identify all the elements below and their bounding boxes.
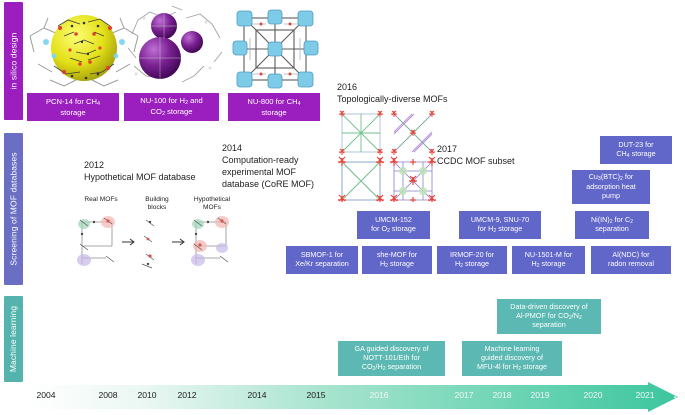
annotation-year-2016: 2016 <box>337 82 357 92</box>
structure-art-nu-100 <box>120 4 230 92</box>
timeline-year-2004: 2004 <box>36 390 55 400</box>
ml-box-text-ga-nott-101: GA guided discovery ofNOTT-101/Eth forCO… <box>355 345 429 372</box>
screening-box-text-ni-in-2: Ni(IN)2 for C2separation <box>591 216 633 234</box>
timeline-year-2018: 2018 <box>492 390 511 400</box>
screening-box-text-umcm-9-snu-70: UMCM-9, SNU-70for H2 storage <box>471 216 529 234</box>
screening-box-sbmof-1: SBMOF-1 forXe/Kr separation <box>286 246 358 274</box>
annotation-year-2012: 2012 <box>84 160 104 170</box>
screening-box-text-irmof-20: IRMOF-20 forH2 storage <box>450 251 494 269</box>
timeline-year-2017: 2017 <box>454 390 473 400</box>
structure-caption-nu-100: NU-100 for H2 andCO2 storage <box>124 93 219 121</box>
screening-box-umcm-152: UMCM-152for O2 storage <box>357 211 430 239</box>
annotation-text-ccdc-mof-subset: CCDC MOF subset <box>437 156 515 166</box>
screening-box-ni-in-2: Ni(IN)2 for C2separation <box>575 211 649 239</box>
structure-caption-pcn-14: PCN-14 for CH4storage <box>27 93 119 121</box>
structure-caption-text-pcn-14: PCN-14 for CH4storage <box>46 97 100 117</box>
timeline-year-2015: 2015 <box>306 390 325 400</box>
screening-box-al-ndc: Al(NDC) forradon removal <box>591 246 671 274</box>
mof-timeline-figure: in silico design Screening of MOF databa… <box>0 0 685 415</box>
annotation-year-2017: 2017 <box>437 144 457 154</box>
category-label-in-silico-design: in silico design <box>9 33 19 90</box>
structure-caption-text-nu-800: NU-800 for CH4storage <box>247 97 300 117</box>
structure-art-nu-800 <box>228 4 328 92</box>
timeline-year-2022: 2022 <box>673 390 685 400</box>
screening-box-text-umcm-152: UMCM-152for O2 storage <box>371 216 416 234</box>
screening-box-she-mof: she-MOF forH2 storage <box>362 246 432 274</box>
ml-box-al-pmof: Data-driven discovery ofAl-PMOF for CO2/… <box>497 299 601 334</box>
ml-box-text-mfu-4l: Machine learningguided discovery ofMFU-4… <box>477 345 547 372</box>
screening-box-text-sbmof-1: SBMOF-1 forXe/Kr separation <box>295 251 349 269</box>
ml-box-text-al-pmof: Data-driven discovery ofAl-PMOF for CO2/… <box>510 303 588 330</box>
screening-box-text-nu-1501-m: NU-1501-M forH2 storage <box>525 251 573 269</box>
screening-box-irmof-20: IRMOF-20 forH2 storage <box>437 246 507 274</box>
annotation-hypothetical-mof-database: 2012Hypothetical MOF database <box>84 160 196 184</box>
category-label-screening-of-mof-databases: Screening of MOF databases <box>9 152 19 265</box>
ml-box-mfu-4l: Machine learningguided discovery ofMFU-4… <box>462 341 562 376</box>
timeline-year-2012: 2012 <box>177 390 196 400</box>
structure-caption-text-nu-100: NU-100 for H2 andCO2 storage <box>140 96 203 118</box>
structure-caption-nu-800: NU-800 for CH4storage <box>228 93 320 121</box>
annotation-text-core-mof: Computation-ready experimental MOF datab… <box>222 155 314 189</box>
screening-box-text-dut-23: DUT-23 forCH4 storage <box>616 141 655 159</box>
annotation-text-hypothetical-mof-database: Hypothetical MOF database <box>84 172 196 182</box>
annotation-ccdc-mof-subset: 2017CCDC MOF subset <box>437 144 515 168</box>
timeline-year-2021: 2021 <box>635 390 654 400</box>
category-bar-in-silico-design: in silico design <box>4 2 23 120</box>
timeline-year-2014: 2014 <box>247 390 266 400</box>
topology-network-diagrams <box>338 110 438 202</box>
timeline: 2004 2008 2010 2012 2014 2015 2016 2017 … <box>28 382 678 412</box>
timeline-year-2008: 2008 <box>98 390 117 400</box>
annotation-topologically-diverse-mofs: 2016Topologically-diverse MOFs <box>337 82 448 106</box>
category-bar-machine-learning: Machine learning <box>4 296 23 382</box>
screening-box-umcm-9-snu-70: UMCM-9, SNU-70for H2 storage <box>459 211 541 239</box>
schematic-label-hypothetical-mofs: Hypothetical MOFs <box>184 196 240 212</box>
timeline-year-2010: 2010 <box>137 390 156 400</box>
screening-box-dut-23: DUT-23 forCH4 storage <box>600 136 672 164</box>
category-label-machine-learning: Machine learning <box>9 306 19 372</box>
timeline-year-2019: 2019 <box>530 390 549 400</box>
annotation-core-mof: 2014Computation-ready experimental MOF d… <box>222 143 314 191</box>
ml-box-ga-nott-101: GA guided discovery ofNOTT-101/Eth forCO… <box>338 341 445 376</box>
screening-box-text-al-ndc: Al(NDC) forradon removal <box>608 251 654 269</box>
screening-box-text-cu3-btc2: Cu3(BTC)2 foradsorption heatpump <box>586 173 636 200</box>
timeline-year-2016: 2016 <box>369 390 388 400</box>
screening-box-cu3-btc2: Cu3(BTC)2 foradsorption heatpump <box>572 170 650 204</box>
schematic-label-building-blocks: Building blocks <box>136 196 178 212</box>
schematic-label-real-mofs: Real MOFs <box>76 196 126 204</box>
annotation-text-topologically-diverse-mofs: Topologically-diverse MOFs <box>337 94 448 104</box>
annotation-year-2014: 2014 <box>222 143 242 153</box>
timeline-year-2020: 2020 <box>583 390 602 400</box>
screening-box-text-she-mof: she-MOF forH2 storage <box>377 251 417 269</box>
timeline-arrow <box>28 382 678 412</box>
screening-box-nu-1501-m: NU-1501-M forH2 storage <box>512 246 585 274</box>
category-bar-screening-of-mof-databases: Screening of MOF databases <box>4 133 23 285</box>
schematic-art-hypothetical-mof-workflow <box>72 212 244 276</box>
